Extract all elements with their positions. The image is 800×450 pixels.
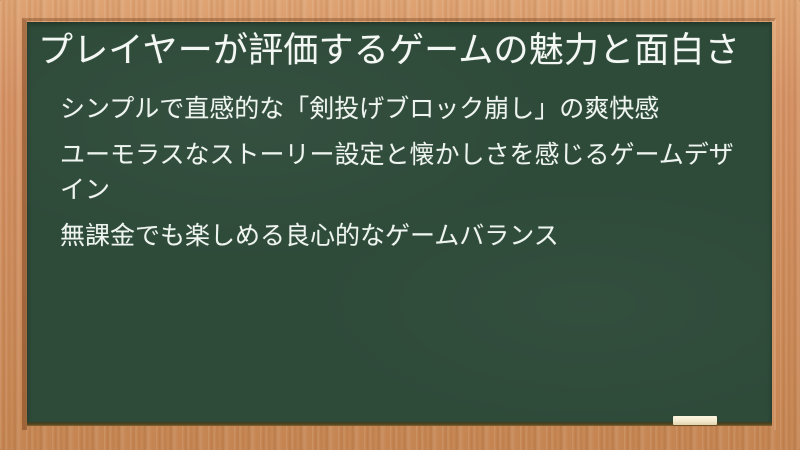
list-item: シンプルで直感的な「剣投げブロック崩し」の爽快感 xyxy=(60,92,750,127)
chalkboard-surface: プレイヤーが評価するゲームの魅力と面白さ シンプルで直感的な「剣投げブロック崩し… xyxy=(27,22,772,425)
chalkboard-ledge-edge xyxy=(27,422,772,426)
slide-content: プレイヤーが評価するゲームの魅力と面白さ シンプルで直感的な「剣投げブロック崩し… xyxy=(27,22,772,425)
list-item: ユーモラスなストーリー設定と懐かしさを感じるゲームデザイン xyxy=(60,138,750,208)
bullet-list: シンプルで直感的な「剣投げブロック崩し」の爽快感 ユーモラスなストーリー設定と懐… xyxy=(34,92,750,254)
chalkboard-slide: プレイヤーが評価するゲームの魅力と面白さ シンプルで直感的な「剣投げブロック崩し… xyxy=(0,0,800,450)
chalk-stick-icon xyxy=(673,416,717,425)
list-item: 無課金でも楽しめる良心的なゲームバランス xyxy=(60,219,750,254)
page-title: プレイヤーが評価するゲームの魅力と面白さ xyxy=(34,28,750,74)
